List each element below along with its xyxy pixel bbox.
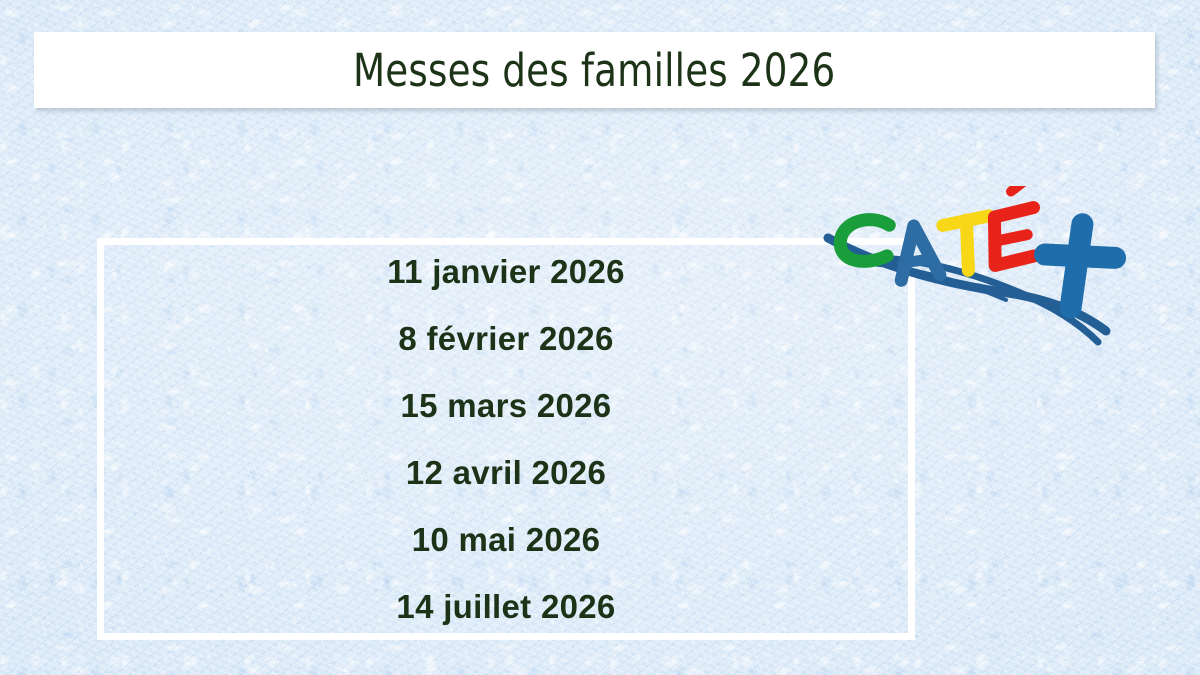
list-item: 14 juillet 2026 (396, 573, 615, 640)
slide-canvas: Messes des familles 2026 11 janvier 2026… (0, 0, 1200, 675)
logo-cross (1040, 221, 1118, 312)
title-banner: Messes des familles 2026 (34, 32, 1155, 108)
list-item: 15 mars 2026 (401, 372, 612, 439)
date-list: 11 janvier 2026 8 février 2026 15 mars 2… (97, 243, 915, 635)
list-item: 11 janvier 2026 (387, 238, 625, 305)
list-item: 8 février 2026 (398, 305, 613, 372)
list-item: 10 mai 2026 (412, 506, 601, 573)
cate-logo (806, 186, 1136, 361)
page-title: Messes des familles 2026 (353, 48, 835, 93)
logo-letter-e-acute (984, 186, 1041, 265)
logo-letter-c (837, 216, 894, 265)
list-item: 12 avril 2026 (406, 439, 606, 506)
